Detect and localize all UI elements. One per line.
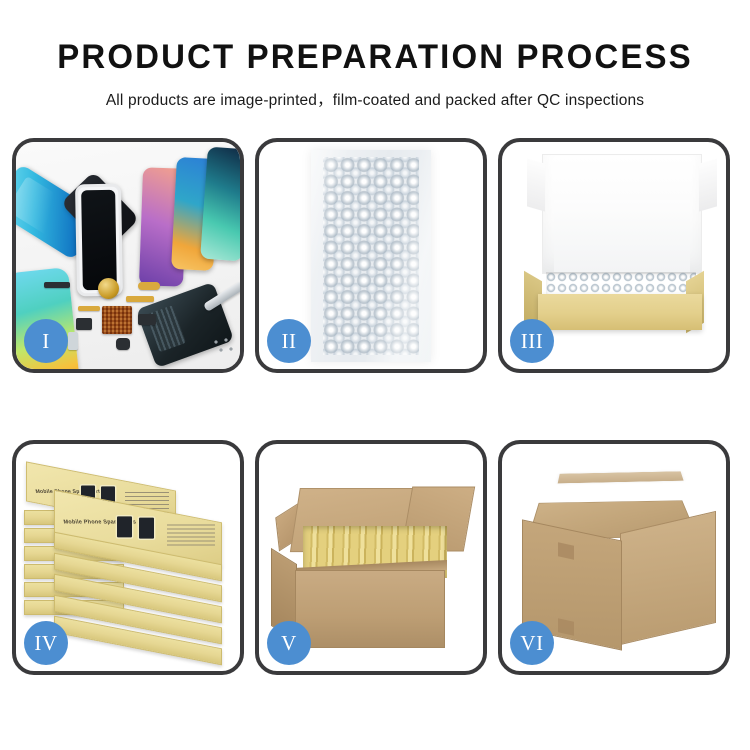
process-step-panel-1: I: [12, 138, 244, 373]
step-badge-3: III: [510, 319, 554, 363]
process-step-panel-3: III: [498, 138, 730, 373]
screws-icon: [212, 338, 236, 356]
part-block-icon: [76, 318, 92, 330]
connector-icon: [68, 332, 78, 350]
phone-front-glass-icon: [75, 184, 123, 297]
page-subtitle: All products are image-printed，film-coat…: [0, 88, 750, 110]
part-button-icon: [116, 338, 130, 350]
flex-cable-2-icon: [126, 296, 154, 302]
header: PRODUCT PREPARATION PROCESS All products…: [0, 0, 750, 110]
step-badge-2: II: [267, 319, 311, 363]
step-badge-1: I: [24, 319, 68, 363]
part-bar-icon: [44, 282, 70, 288]
box-spec-lines: [167, 524, 215, 548]
page-title: PRODUCT PREPARATION PROCESS: [11, 38, 739, 77]
box-phone-thumb-icon: [117, 516, 132, 537]
box-phone-thumb-icon: [139, 518, 154, 539]
step-badge-4: IV: [24, 621, 68, 665]
process-step-panel-4: Mobile Phone Spare Parts Mobile Phone Sp…: [12, 440, 244, 675]
process-step-panel-2: II: [255, 138, 487, 373]
process-step-grid: I II III: [12, 138, 738, 683]
step-badge-5: V: [267, 621, 311, 665]
box-front-face: [538, 294, 702, 330]
process-step-panel-5: V: [255, 440, 487, 675]
box-inner-wall: [554, 200, 690, 272]
plastic-sheen: [311, 150, 431, 362]
sealed-carton-side-face: [620, 511, 716, 645]
phone-screen-green-icon: [200, 147, 240, 262]
part-camera-icon: [138, 314, 156, 325]
step-badge-6: VI: [510, 621, 554, 665]
bubble-wrap-pouch-icon: [311, 150, 431, 362]
carton-front-face: [295, 570, 445, 648]
flex-cable-3-icon: [78, 306, 100, 311]
process-step-panel-6: VI: [498, 440, 730, 675]
speaker-coil-icon: [98, 278, 119, 299]
chip-grid-icon: [102, 306, 132, 334]
flex-cable-icon: [138, 282, 160, 290]
